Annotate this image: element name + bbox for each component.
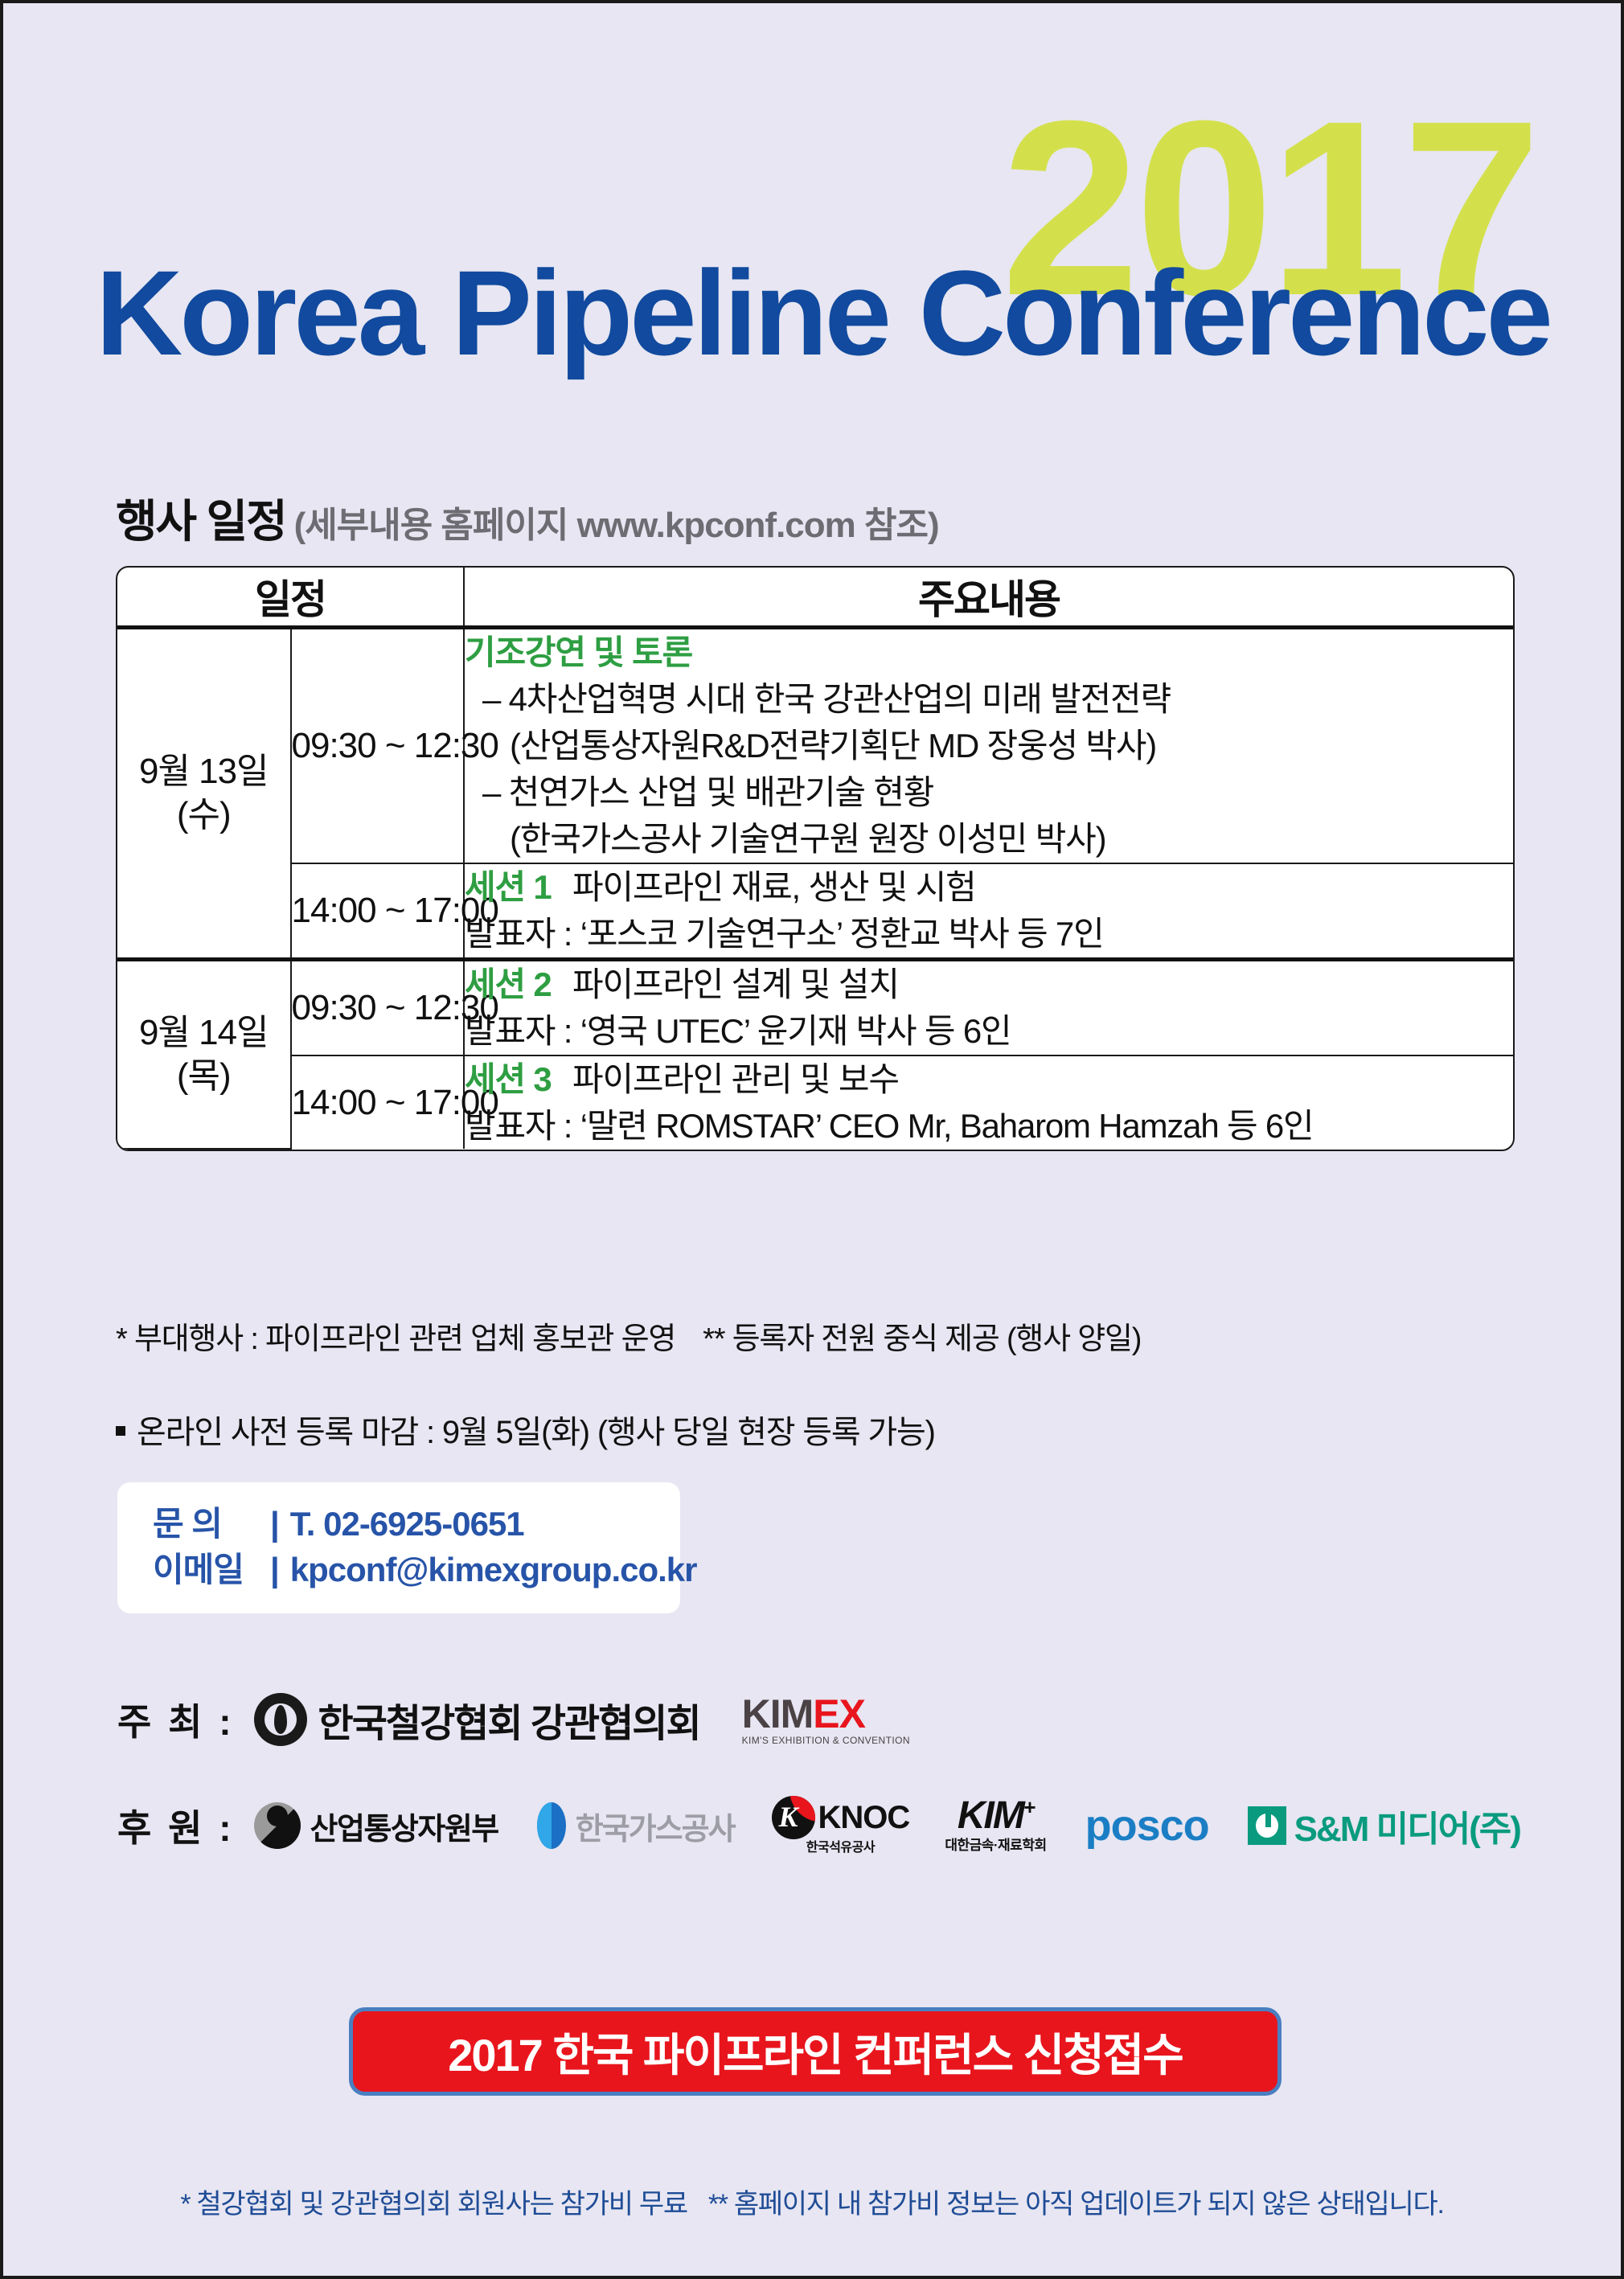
contact-email-label: 이메일	[153, 1547, 259, 1593]
session-presenter: 발표자 : ‘영국 UTEC’ 윤기재 박사 등 6인	[465, 1008, 1513, 1055]
footnote-part1: * 철강협회 및 강관협의회 회원사는 참가비 무료	[180, 2189, 687, 2220]
session-title-row: 세션 3 파이프라인 관리 및 보수	[465, 1056, 1513, 1103]
date-text: 9월 13일	[117, 750, 290, 793]
knoc-k-icon	[772, 1796, 815, 1839]
session-title: 파이프라인 관리 및 보수	[572, 1060, 899, 1098]
logo-knoc: KNOC 한국석유공사	[772, 1796, 910, 1855]
knoc-label: KNOC	[818, 1800, 910, 1836]
note-lunch: ** 등록자 전원 중식 제공 (행사 양일)	[703, 1322, 1141, 1356]
column-header-content: 주요내용	[464, 568, 1513, 628]
session-title-row: 세션 2 파이프라인 설계 및 설치	[465, 961, 1513, 1008]
knoc-subtitle: 한국석유공사	[806, 1836, 875, 1855]
content-cell-keynote: 기조강연 및 토론 – 4차산업혁명 시대 한국 강관산업의 미래 발전전략 (…	[464, 628, 1513, 863]
contact-phone-row: 문 의|T. 02-6925-0651	[153, 1502, 680, 1547]
sm-media-icon	[1248, 1806, 1286, 1845]
session-title: 파이프라인 재료, 생산 및 시험	[572, 868, 976, 906]
contact-phone-label: 문 의	[153, 1502, 259, 1547]
keynote-line-1: – 4차산업혁명 시대 한국 강관산업의 미래 발전전략	[465, 676, 1513, 723]
content-cell-session1: 세션 1 파이프라인 재료, 생산 및 시험 발표자 : ‘포스코 기술연구소’…	[464, 863, 1513, 959]
sponsor-row: 후 원 : 산업통상자원부 한국가스공사 KNOC 한국석유공사 KIM+ 대한…	[117, 1796, 1520, 1855]
square-bullet-icon	[116, 1426, 125, 1436]
session-title: 파이프라인 설계 및 설치	[572, 965, 899, 1003]
date-cell-day2: 9월 14일 (목)	[117, 959, 291, 1149]
sm-media-label: S&M 미디어(주)	[1294, 1800, 1520, 1851]
contact-separator: |	[270, 1551, 279, 1588]
keynote-line-3: – 천연가스 산업 및 배관기술 현황	[465, 769, 1513, 816]
time-cell: 14:00 ~ 17:00	[291, 863, 465, 959]
motie-taegeuk-icon	[254, 1802, 301, 1849]
table-row: 14:00 ~ 17:00 세션 3 파이프라인 관리 및 보수 발표자 : ‘…	[117, 1055, 1513, 1150]
schedule-heading-sub: (세부내용 홈페이지 www.kpconf.com 참조)	[294, 506, 939, 545]
keynote-line-2: (산업통상자원R&D전략기획단 MD 장웅성 박사)	[465, 723, 1513, 769]
logo-kosa: 한국철강협회 강관협의회	[254, 1691, 700, 1748]
posco-wordmark-icon: posco	[1085, 1801, 1209, 1851]
session-label: 세션 1	[465, 868, 552, 906]
footnote-events: * 부대행사 : 파이프라인 관련 업체 홍보관 운영** 등록자 전원 중식 …	[116, 1314, 1141, 1358]
registration-deadline-text: 온라인 사전 등록 마감 : 9월 5일(화) (행사 당일 현장 등록 가능)	[137, 1415, 935, 1450]
poster-root: 2017 Korea Pipeline Conference 행사 일정(세부내…	[0, 0, 1624, 2279]
kosa-label: 한국철강협회 강관협의회	[318, 1691, 700, 1748]
table-row: 9월 14일 (목) 09:30 ~ 12:30 세션 2 파이프라인 설계 및…	[117, 959, 1513, 1055]
page-title: Korea Pipeline Conference	[96, 252, 1550, 373]
sponsor-role-label: 후 원 :	[117, 1799, 235, 1852]
bottom-footnote: * 철강협회 및 강관협의회 회원사는 참가비 무료** 홈페이지 내 참가비 …	[3, 2182, 1621, 2221]
register-button[interactable]: 2017 한국 파이프라인 컨퍼런스 신청접수	[349, 2007, 1282, 2096]
contact-box: 문 의|T. 02-6925-0651 이메일|kpconf@kimexgrou…	[117, 1482, 680, 1613]
kimex-subtitle: KIM'S EXHIBITION & CONVENTION	[742, 1736, 910, 1745]
organizer-role-label: 주 최 :	[117, 1693, 235, 1746]
content-cell-session3: 세션 3 파이프라인 관리 및 보수 발표자 : ‘말련 ROMSTAR’ CE…	[464, 1055, 1513, 1150]
kimex-part2: EX	[813, 1691, 865, 1736]
poster-header: 2017 Korea Pipeline Conference	[3, 3, 1621, 421]
contact-email-value[interactable]: kpconf@kimexgroup.co.kr	[290, 1551, 697, 1588]
footnote-part2: ** 홈페이지 내 참가비 정보는 아직 업데이트가 되지 않은 상태입니다.	[708, 2189, 1444, 2220]
kogas-label: 한국가스공사	[576, 1804, 735, 1848]
kogas-flame-icon	[537, 1802, 566, 1849]
date-cell-day1: 9월 13일 (수)	[117, 628, 291, 960]
time-cell: 09:30 ~ 12:30	[291, 628, 465, 863]
contact-phone-value[interactable]: T. 02-6925-0651	[290, 1505, 524, 1543]
kosa-seal-icon	[254, 1693, 307, 1746]
session-presenter: 발표자 : ‘말련 ROMSTAR’ CEO Mr, Baharom Hamza…	[465, 1103, 1513, 1150]
kim-plus-icon: +	[1023, 1795, 1034, 1819]
weekday-text: (목)	[117, 1055, 290, 1098]
table-header-row: 일정 주요내용	[117, 568, 1513, 628]
keynote-line-4: (한국가스공사 기술연구원 원장 이성민 박사)	[465, 816, 1513, 863]
registration-deadline-row: 온라인 사전 등록 마감 : 9월 5일(화) (행사 당일 현장 등록 가능)	[116, 1406, 935, 1453]
kim-subtitle: 대한금속·재료학회	[945, 1834, 1046, 1854]
logo-posco: posco	[1085, 1801, 1209, 1851]
session-label: 세션 3	[465, 1060, 552, 1098]
logo-motie: 산업통상자원부	[254, 1802, 498, 1849]
schedule-heading: 행사 일정(세부내용 홈페이지 www.kpconf.com 참조)	[116, 486, 939, 551]
time-cell: 09:30 ~ 12:30	[291, 959, 465, 1055]
schedule-table-wrapper: 일정 주요내용 9월 13일 (수) 09:30 ~ 12:30 기조강연 및 …	[116, 566, 1515, 1151]
register-button-label: 2017 한국 파이프라인 컨퍼런스 신청접수	[448, 2019, 1183, 2084]
time-cell: 14:00 ~ 17:00	[291, 1055, 465, 1150]
session-presenter: 발표자 : ‘포스코 기술연구소’ 정환교 박사 등 7인	[465, 911, 1513, 957]
logo-kogas: 한국가스공사	[537, 1802, 735, 1849]
kimex-part1: KIM	[742, 1691, 814, 1736]
session-label: 세션 2	[465, 965, 552, 1003]
content-cell-session2: 세션 2 파이프라인 설계 및 설치 발표자 : ‘영국 UTEC’ 윤기재 박…	[464, 959, 1513, 1055]
motie-label: 산업통상자원부	[310, 1804, 498, 1848]
table-row: 9월 13일 (수) 09:30 ~ 12:30 기조강연 및 토론 – 4차산…	[117, 628, 1513, 863]
session-title-row: 세션 1 파이프라인 재료, 생산 및 시험	[465, 864, 1513, 911]
kim-label: KIM+	[958, 1797, 1034, 1834]
schedule-table: 일정 주요내용 9월 13일 (수) 09:30 ~ 12:30 기조강연 및 …	[117, 568, 1513, 1150]
table-row: 14:00 ~ 17:00 세션 1 파이프라인 재료, 생산 및 시험 발표자…	[117, 863, 1513, 959]
schedule-heading-main: 행사 일정	[116, 496, 286, 547]
keynote-heading: 기조강연 및 토론	[465, 629, 1513, 676]
logo-kim: KIM+ 대한금속·재료학회	[945, 1797, 1046, 1855]
contact-separator: |	[270, 1505, 279, 1543]
note-side-event: * 부대행사 : 파이프라인 관련 업체 홍보관 운영	[116, 1322, 675, 1356]
organizer-row: 주 최 : 한국철강협회 강관협의회 KIMEX KIM'S EXHIBITIO…	[117, 1691, 910, 1748]
logo-sm-media: S&M 미디어(주)	[1248, 1800, 1520, 1851]
weekday-text: (수)	[117, 793, 290, 837]
column-header-schedule: 일정	[117, 568, 464, 628]
contact-email-row: 이메일|kpconf@kimexgroup.co.kr	[153, 1547, 680, 1593]
logo-kimex: KIMEX KIM'S EXHIBITION & CONVENTION	[742, 1694, 910, 1745]
date-text: 9월 14일	[117, 1011, 290, 1055]
